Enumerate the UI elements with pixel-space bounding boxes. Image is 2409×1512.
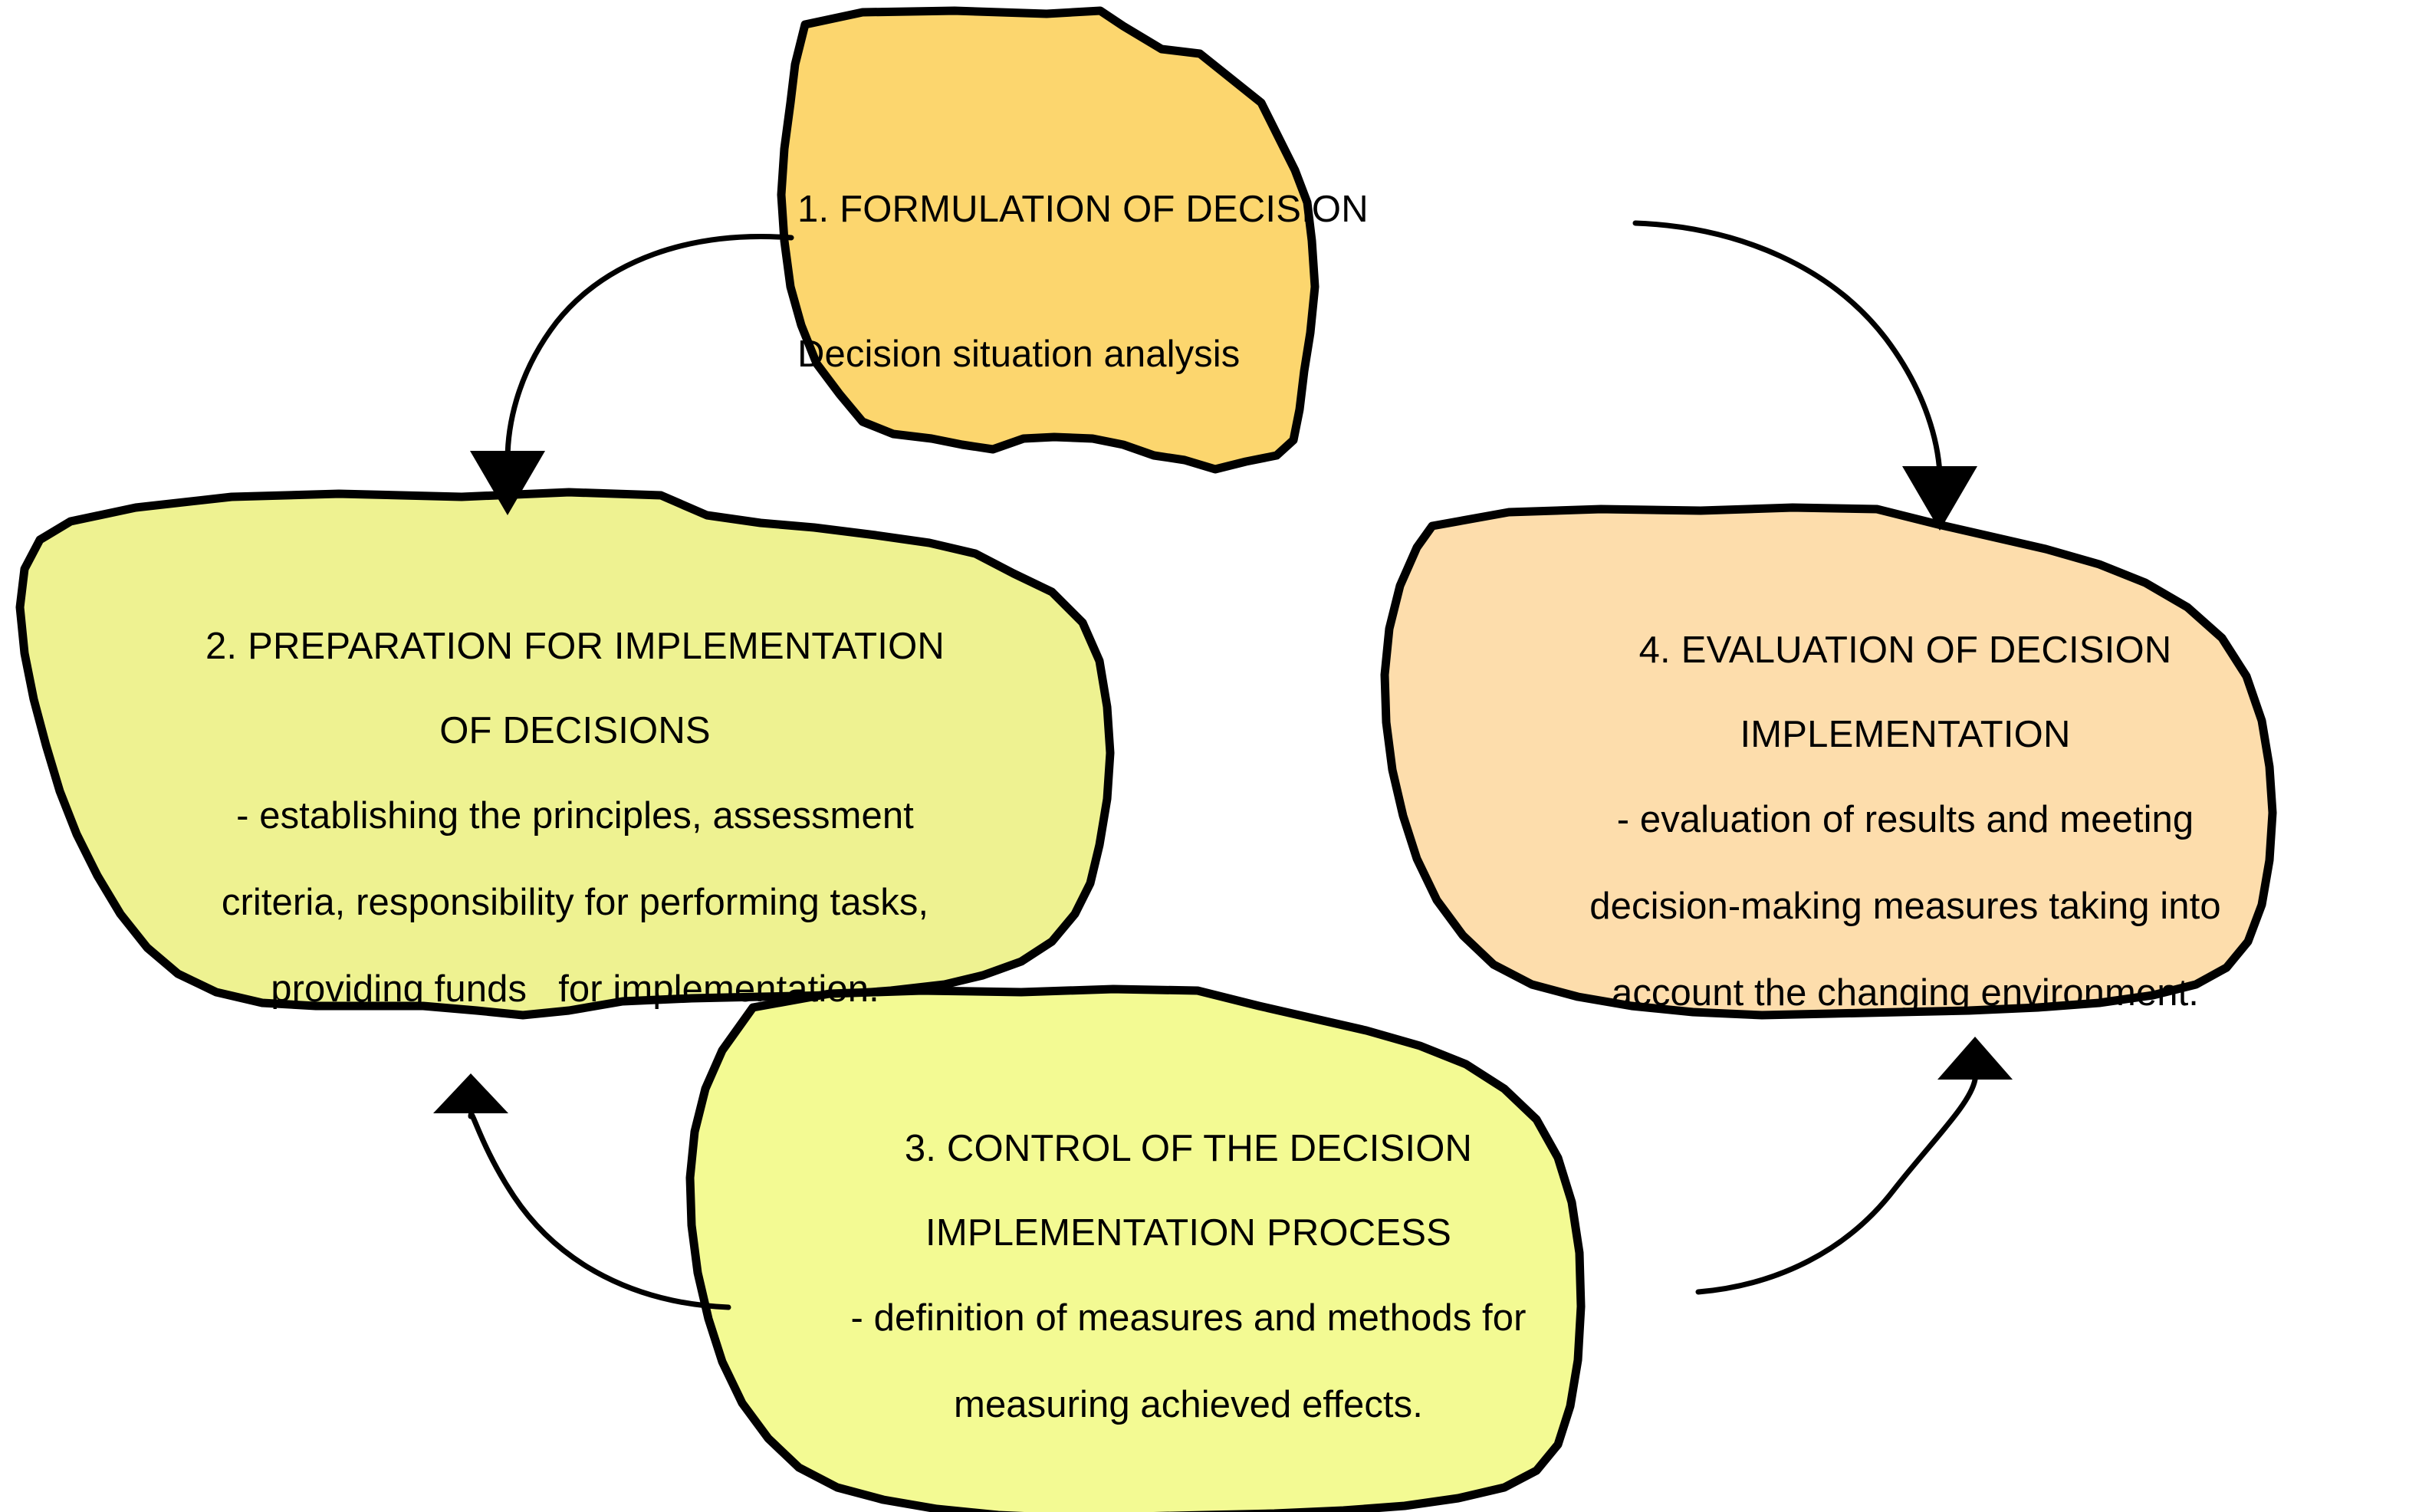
edge-3-to-4-arrowhead [1937, 1037, 2013, 1080]
edge-1-to-4-line [1635, 223, 1940, 474]
edge-3-to-2-arrowhead [433, 1073, 508, 1113]
node-shape-evaluation-of-decision-implementation[interactable] [1385, 508, 2273, 1015]
diagram-canvas [0, 0, 2409, 1512]
edge-formulation-to-preparation [470, 236, 791, 515]
node-shape-preparation-for-implementation[interactable] [20, 492, 1110, 1015]
decision-cycle-diagram: 1. FORMULATION OF DECISION Decision situ… [0, 0, 2409, 1512]
edge-1-to-2-line [508, 236, 791, 460]
edge-formulation-to-evaluation [1635, 223, 1977, 531]
node-shape-control-of-decision-implementation[interactable] [690, 989, 1581, 1512]
edge-control-to-preparation [433, 1073, 728, 1307]
edge-3-to-4-line [1698, 1080, 1975, 1292]
edge-control-to-evaluation [1698, 1037, 2013, 1292]
node-shape-formulation-of-decision[interactable] [781, 11, 1315, 469]
